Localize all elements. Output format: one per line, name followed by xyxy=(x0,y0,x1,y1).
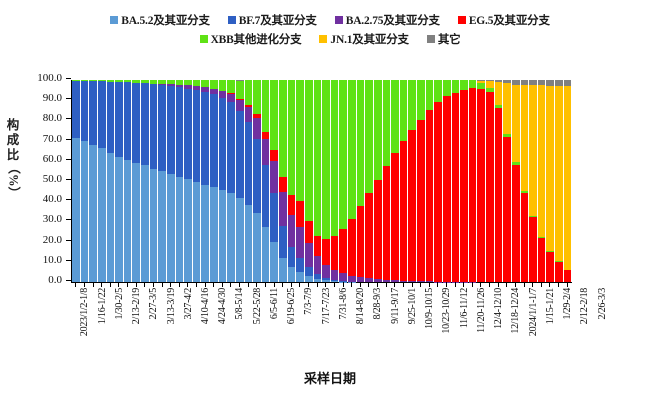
stacked-bar[interactable] xyxy=(81,80,89,282)
legend-item-jn-1[interactable]: JN.1及其亚分支 xyxy=(319,31,408,47)
bar-segment-ba-2-75 xyxy=(314,256,322,274)
bar-segment-ba-2-75 xyxy=(288,215,296,247)
bar-segment-eg-5 xyxy=(546,252,554,282)
x-tick-mark xyxy=(144,282,145,287)
y-axis-title-char: 成 xyxy=(4,133,22,148)
bar-segment-eg-5 xyxy=(270,150,278,161)
stacked-bar[interactable] xyxy=(331,80,339,282)
stacked-bar[interactable] xyxy=(193,80,201,282)
x-tick-label: 1/29-2/4 xyxy=(562,288,573,320)
stacked-bar[interactable] xyxy=(314,80,322,282)
x-tick-mark xyxy=(265,282,266,287)
bar-segment-ba-5-2 xyxy=(245,205,253,282)
bar-segment-eg-5 xyxy=(408,130,416,282)
x-tick-mark xyxy=(498,282,499,287)
bar-segment-ba-5-2 xyxy=(72,138,80,282)
stacked-bar[interactable] xyxy=(288,80,296,282)
bar-segment-ba-5-2 xyxy=(89,145,97,282)
bar-segment-eg-5 xyxy=(374,180,382,279)
stacked-bar[interactable] xyxy=(115,80,123,282)
x-tick-mark xyxy=(437,282,438,287)
bar-segment-ba-2-75 xyxy=(305,243,313,267)
bar-segment-xbb xyxy=(408,80,416,129)
x-tick-label: 10/9-10/15 xyxy=(424,288,435,329)
bar-segment-xbb xyxy=(305,80,313,221)
legend-label: 其它 xyxy=(438,31,461,47)
y-axis-unit: （%） xyxy=(6,162,21,180)
x-tick-label: 2024/1/1-1/7 xyxy=(528,288,539,336)
bar-segment-ba-2-75 xyxy=(219,91,227,98)
bar-segment-jn-1 xyxy=(486,81,494,88)
x-tick-label: 8/28-9/3 xyxy=(372,288,383,320)
bar-segment-eg-5 xyxy=(391,153,399,280)
legend-label: XBB其他进化分支 xyxy=(211,31,302,47)
stacked-bar[interactable] xyxy=(503,80,511,282)
bar-segment-eg-5 xyxy=(383,166,391,279)
legend-swatch-icon xyxy=(319,35,327,43)
bar-segment-bf-7 xyxy=(236,111,244,198)
x-tick-mark xyxy=(162,282,163,287)
bar-segment-ba-2-75 xyxy=(279,192,287,226)
x-tick-label: 4/24-4/30 xyxy=(217,288,228,324)
y-axis-title-char: 构 xyxy=(4,118,22,133)
stacked-bar[interactable] xyxy=(322,80,330,282)
x-tick-mark xyxy=(239,282,240,287)
bar-segment-bf-7 xyxy=(245,122,253,205)
x-axis-title: 采样日期 xyxy=(0,368,660,387)
bar-segment-bf-7 xyxy=(201,92,209,186)
stacked-bar[interactable] xyxy=(279,80,287,282)
stacked-bar[interactable] xyxy=(176,80,184,282)
x-tick-mark xyxy=(205,282,206,287)
bar-segment-eg-5 xyxy=(538,238,546,282)
legend-item-ba-2-75[interactable]: BA.2.75及其亚分支 xyxy=(335,12,440,28)
stacked-bar[interactable] xyxy=(486,80,494,282)
stacked-bar[interactable] xyxy=(184,80,192,282)
bar-segment-eg-5 xyxy=(486,92,494,282)
bar-segment-eg-5 xyxy=(400,141,408,280)
bar-segment-xbb xyxy=(400,80,408,141)
bar-segment-bf-7 xyxy=(193,90,201,182)
x-tick-label: 2/13-2/19 xyxy=(131,288,142,324)
stacked-bar[interactable] xyxy=(512,80,520,282)
stacked-bar[interactable] xyxy=(469,80,477,282)
bar-segment-bf-7 xyxy=(305,267,313,275)
x-tick-mark xyxy=(299,282,300,287)
bar-segment-ba-5-2 xyxy=(158,171,166,282)
bar-segment-jn-1 xyxy=(503,83,511,134)
stacked-bar[interactable] xyxy=(564,80,572,282)
x-tick-mark xyxy=(549,282,550,287)
bar-segment-ba-2-75 xyxy=(253,118,261,138)
bar-segment-xbb xyxy=(253,80,261,114)
stacked-bar[interactable] xyxy=(150,80,158,282)
y-tick-label: 30.0 xyxy=(43,213,62,225)
x-tick-label: 2/12-2/18 xyxy=(579,288,590,324)
x-tick-mark xyxy=(351,282,352,287)
stacked-bar[interactable] xyxy=(167,80,175,282)
stacked-bar[interactable] xyxy=(339,80,347,282)
bar-segment-ba-5-2 xyxy=(150,169,158,282)
bar-segment-jn-1 xyxy=(495,82,503,104)
x-tick-mark xyxy=(506,282,507,287)
x-axis-labels: 2023/1/2-1/81/16-1/221/30-2/52/13-2/192/… xyxy=(71,288,571,360)
y-axis-title: 构成比（%） xyxy=(4,118,22,178)
x-tick-label: 7/3-7/9 xyxy=(303,288,314,315)
x-tick-mark xyxy=(480,282,481,287)
x-tick-mark xyxy=(118,282,119,287)
stacked-bar[interactable] xyxy=(348,80,356,282)
y-tick-label: 90.0 xyxy=(43,92,62,104)
bar-segment-eg-5 xyxy=(512,165,520,282)
stacked-bar[interactable] xyxy=(417,80,425,282)
bar-segment-ba-5-2 xyxy=(236,198,244,282)
stacked-bar[interactable] xyxy=(158,80,166,282)
bar-segment-bf-7 xyxy=(150,84,158,168)
x-tick-mark xyxy=(558,282,559,287)
bar-segment-ba-5-2 xyxy=(176,177,184,282)
x-tick-label: 4/10-4/16 xyxy=(200,288,211,324)
x-tick-label: 2/27-3/5 xyxy=(148,288,159,320)
stacked-bar[interactable] xyxy=(262,80,270,282)
stacked-bar[interactable] xyxy=(555,80,563,282)
y-tick-label: 40.0 xyxy=(43,193,62,205)
y-tick-label: 50.0 xyxy=(43,173,62,185)
x-tick-label: 6/5-6/11 xyxy=(269,288,280,319)
bar-segment-ba-2-75 xyxy=(296,227,304,257)
bar-segment-bf-7 xyxy=(262,165,270,228)
x-tick-mark xyxy=(394,282,395,287)
legend-item-bf-7[interactable]: BF.7及其亚分支 xyxy=(228,12,317,28)
bar-segment-ba-2-75 xyxy=(245,107,253,122)
bar-segment-xbb xyxy=(365,80,373,193)
bar-segment-xbb xyxy=(348,80,356,219)
stacked-bar[interactable] xyxy=(452,80,460,282)
bar-segment-xbb xyxy=(374,80,382,180)
bar-segment-eg-5 xyxy=(503,137,511,282)
bar-segment-xbb xyxy=(296,80,304,201)
bar-segment-xbb xyxy=(210,80,218,88)
stacked-bar[interactable] xyxy=(107,80,115,282)
bar-segment-ba-5-2 xyxy=(167,174,175,282)
x-tick-mark xyxy=(455,282,456,287)
stacked-bar[interactable] xyxy=(201,80,209,282)
x-tick-label: 6/19-6/25 xyxy=(286,288,297,324)
bar-segment-xbb xyxy=(339,80,347,229)
stacked-bar[interactable] xyxy=(391,80,399,282)
bar-segment-eg-5 xyxy=(426,110,434,282)
bar-segment-ba-5-2 xyxy=(253,213,261,282)
stacked-bar[interactable] xyxy=(270,80,278,282)
bar-segment-eg-5 xyxy=(322,239,330,265)
bar-segment-eg-5 xyxy=(564,270,572,282)
bar-segment-eg-5 xyxy=(469,88,477,282)
x-tick-mark xyxy=(541,282,542,287)
bar-segment-xbb xyxy=(383,80,391,166)
y-tick-label: 0.0 xyxy=(48,274,62,286)
bar-segment-bf-7 xyxy=(270,193,278,241)
x-tick-mark xyxy=(386,282,387,287)
x-tick-mark xyxy=(334,282,335,287)
bar-segment-ba-5-2 xyxy=(219,190,227,282)
bar-segment-xbb xyxy=(322,80,330,239)
legend-label: BA.2.75及其亚分支 xyxy=(346,12,440,28)
x-tick-mark xyxy=(84,282,85,287)
bar-segment-jn-1 xyxy=(512,85,520,163)
x-tick-label: 7/31-8/6 xyxy=(338,288,349,320)
bar-segment-bf-7 xyxy=(124,82,132,159)
x-tick-mark xyxy=(274,282,275,287)
x-tick-label: 12/18-12/24 xyxy=(510,288,521,334)
x-tick-mark xyxy=(101,282,102,287)
stacked-bar[interactable] xyxy=(141,80,149,282)
x-tick-mark xyxy=(282,282,283,287)
legend-item-eg-5[interactable]: EG.5及其亚分支 xyxy=(458,12,550,28)
x-tick-mark xyxy=(127,282,128,287)
stacked-bar[interactable] xyxy=(426,80,434,282)
bar-segment-ba-2-75 xyxy=(227,94,235,102)
bar-segment-eg-5 xyxy=(477,89,485,282)
x-tick-mark xyxy=(524,282,525,287)
x-tick-mark xyxy=(248,282,249,287)
y-tick-label: 20.0 xyxy=(43,234,62,246)
legend-label: BF.7及其亚分支 xyxy=(239,12,317,28)
bar-segment-ba-5-2 xyxy=(184,179,192,282)
stacked-bar[interactable] xyxy=(460,80,468,282)
stacked-bar[interactable] xyxy=(365,80,373,282)
legend-swatch-icon xyxy=(427,35,435,43)
bar-segment-eg-5 xyxy=(331,236,339,270)
legend-swatch-icon xyxy=(110,16,118,24)
x-tick-mark xyxy=(308,282,309,287)
stacked-bar[interactable] xyxy=(434,80,442,282)
y-axis-ticks: 100.090.080.070.060.050.040.030.020.010.… xyxy=(22,78,66,282)
x-tick-label: 10/23-10/29 xyxy=(441,288,452,334)
stacked-bar[interactable] xyxy=(400,80,408,282)
legend-row: XBB其他进化分支JN.1及其亚分支其它 xyxy=(191,31,470,47)
legend-swatch-icon xyxy=(458,16,466,24)
x-tick-mark xyxy=(368,282,369,287)
chart-legend: BA.5.2及其亚分支BF.7及其亚分支BA.2.75及其亚分支EG.5及其亚分… xyxy=(0,12,660,47)
stacked-bars xyxy=(72,80,572,282)
bar-segment-eg-5 xyxy=(296,201,304,227)
bar-segment-xbb xyxy=(417,80,425,120)
x-tick-label: 11/20-11/26 xyxy=(476,288,487,333)
x-tick-label: 7/17-7/23 xyxy=(321,288,332,324)
legend-swatch-icon xyxy=(335,16,343,24)
bar-segment-eg-5 xyxy=(460,90,468,282)
x-tick-mark xyxy=(136,282,137,287)
x-tick-label: 1/30-2/5 xyxy=(114,288,125,320)
bar-segment-eg-5 xyxy=(305,221,313,243)
stacked-bar[interactable] xyxy=(227,80,235,282)
bar-segment-xbb xyxy=(357,80,365,206)
bar-segment-ba-5-2 xyxy=(288,267,296,282)
stacked-bar[interactable] xyxy=(495,80,503,282)
stacked-bar[interactable] xyxy=(521,80,529,282)
stacked-bar[interactable] xyxy=(408,80,416,282)
stacked-bar[interactable] xyxy=(219,80,227,282)
x-tick-mark xyxy=(403,282,404,287)
legend-swatch-icon xyxy=(200,35,208,43)
bar-segment-ba-5-2 xyxy=(210,187,218,282)
bar-segment-eg-5 xyxy=(452,93,460,282)
bar-segment-xbb xyxy=(245,80,253,105)
bar-segment-ba-5-2 xyxy=(262,227,270,282)
x-tick-label: 3/13-3/19 xyxy=(166,288,177,324)
x-tick-mark xyxy=(230,282,231,287)
y-tick-label: 80.0 xyxy=(43,112,62,124)
bar-segment-jn-1 xyxy=(538,85,546,236)
bar-segment-ba-2-75 xyxy=(262,139,270,165)
y-tick-mark xyxy=(66,78,71,79)
bar-segment-ba-2-75 xyxy=(339,273,347,281)
stacked-bar[interactable] xyxy=(98,80,106,282)
x-tick-mark xyxy=(325,282,326,287)
x-tick-mark xyxy=(196,282,197,287)
bar-segment-ba-2-75 xyxy=(236,100,244,111)
x-tick-mark xyxy=(472,282,473,287)
bar-segment-eg-5 xyxy=(555,262,563,282)
x-tick-label: 8/14-8/20 xyxy=(355,288,366,324)
x-tick-mark xyxy=(412,282,413,287)
bar-segment-xbb xyxy=(201,80,209,87)
x-tick-mark xyxy=(567,282,568,287)
legend-item-ba-5-2[interactable]: BA.5.2及其亚分支 xyxy=(110,12,210,28)
bar-segment-jn-1 xyxy=(564,86,572,270)
x-tick-mark xyxy=(532,282,533,287)
bar-segment-bf-7 xyxy=(132,83,140,163)
bar-segment-xbb xyxy=(314,80,322,236)
x-tick-label: 3/27-4/2 xyxy=(183,288,194,320)
stacked-bar[interactable] xyxy=(245,80,253,282)
stacked-bar[interactable] xyxy=(305,80,313,282)
bar-segment-eg-5 xyxy=(348,219,356,276)
stacked-bar[interactable] xyxy=(357,80,365,282)
legend-item-xbb[interactable]: XBB其他进化分支 xyxy=(200,31,302,47)
bar-segment-eg-5 xyxy=(495,108,503,282)
x-tick-label: 1/16-1/22 xyxy=(97,288,108,324)
bar-segment-bf-7 xyxy=(253,139,261,214)
stacked-bar[interactable] xyxy=(236,80,244,282)
x-tick-mark xyxy=(213,282,214,287)
bar-segment-xbb xyxy=(391,80,399,153)
bar-segment-bf-7 xyxy=(296,258,304,272)
bar-segment-xbb xyxy=(227,80,235,93)
stacked-bar[interactable] xyxy=(72,80,80,282)
stacked-bar[interactable] xyxy=(124,80,132,282)
plot-area xyxy=(71,80,572,283)
stacked-bar[interactable] xyxy=(383,80,391,282)
bar-segment-xbb xyxy=(469,80,477,88)
y-tick-label: 10.0 xyxy=(43,254,62,266)
bar-segment-xbb xyxy=(443,80,451,96)
bar-segment-ba-5-2 xyxy=(141,165,149,282)
stacked-bar[interactable] xyxy=(477,80,485,282)
bar-segment-eg-5 xyxy=(365,193,373,278)
x-tick-mark xyxy=(187,282,188,287)
stacked-bar[interactable] xyxy=(296,80,304,282)
y-tick-label: 100.0 xyxy=(37,72,62,84)
bar-segment-eg-5 xyxy=(521,193,529,282)
variant-composition-chart: BA.5.2及其亚分支BF.7及其亚分支BA.2.75及其亚分支EG.5及其亚分… xyxy=(0,0,660,401)
y-tick-label: 60.0 xyxy=(43,153,62,165)
stacked-bar[interactable] xyxy=(253,80,261,282)
stacked-bar[interactable] xyxy=(132,80,140,282)
bar-segment-ba-2-75 xyxy=(322,265,330,278)
bar-segment-bf-7 xyxy=(115,82,123,157)
x-tick-label: 9/25-10/1 xyxy=(407,288,418,324)
bar-segment-ba-5-2 xyxy=(98,148,106,282)
bar-segment-bf-7 xyxy=(141,83,149,164)
x-tick-mark xyxy=(446,282,447,287)
stacked-bar[interactable] xyxy=(210,80,218,282)
legend-label: EG.5及其亚分支 xyxy=(469,12,550,28)
bar-segment-ba-5-2 xyxy=(270,242,278,282)
legend-row: BA.5.2及其亚分支BF.7及其亚分支BA.2.75及其亚分支EG.5及其亚分… xyxy=(101,12,559,28)
bar-segment-xbb xyxy=(452,80,460,93)
x-tick-mark xyxy=(291,282,292,287)
stacked-bar[interactable] xyxy=(89,80,97,282)
bar-segment-ba-5-2 xyxy=(201,185,209,282)
bar-segment-bf-7 xyxy=(89,81,97,144)
stacked-bar[interactable] xyxy=(546,80,554,282)
bar-segment-eg-5 xyxy=(434,102,442,282)
bar-segment-eg-5 xyxy=(262,132,270,139)
x-tick-mark xyxy=(343,282,344,287)
bar-segment-bf-7 xyxy=(184,89,192,179)
x-tick-mark xyxy=(420,282,421,287)
stacked-bar[interactable] xyxy=(529,80,537,282)
bar-segment-ba-5-2 xyxy=(193,182,201,282)
x-tick-label: 11/6-11/12 xyxy=(459,288,470,328)
stacked-bar[interactable] xyxy=(443,80,451,282)
bar-segment-xbb xyxy=(236,81,244,99)
bar-segment-xbb xyxy=(262,80,270,132)
bar-segment-xbb xyxy=(434,80,442,102)
bar-segment-ba-2-75 xyxy=(270,161,278,193)
bar-segment-bf-7 xyxy=(167,86,175,174)
legend-label: JN.1及其亚分支 xyxy=(330,31,408,47)
bar-segment-ba-5-2 xyxy=(115,157,123,282)
bar-segment-eg-5 xyxy=(339,229,347,273)
x-tick-mark xyxy=(153,282,154,287)
x-tick-label: 9/11-9/17 xyxy=(390,288,401,324)
stacked-bar[interactable] xyxy=(538,80,546,282)
bar-segment-xbb xyxy=(219,80,227,91)
bar-segment-eg-5 xyxy=(529,217,537,282)
legend-item-other[interactable]: 其它 xyxy=(427,31,461,47)
stacked-bar[interactable] xyxy=(374,80,382,282)
bar-segment-eg-5 xyxy=(279,177,287,192)
bar-segment-bf-7 xyxy=(219,98,227,191)
x-tick-mark xyxy=(429,282,430,287)
bar-segment-ba-5-2 xyxy=(227,193,235,282)
bar-segment-bf-7 xyxy=(279,226,287,258)
bar-segment-eg-5 xyxy=(357,206,365,277)
x-tick-mark xyxy=(317,282,318,287)
x-tick-mark xyxy=(110,282,111,287)
y-tick-label: 70.0 xyxy=(43,133,62,145)
bar-segment-eg-5 xyxy=(314,236,322,256)
x-tick-label: 5/8-5/14 xyxy=(234,288,245,320)
x-tick-mark xyxy=(515,282,516,287)
x-tick-mark xyxy=(179,282,180,287)
x-tick-mark xyxy=(360,282,361,287)
x-tick-label: 1/15-1/21 xyxy=(545,288,556,324)
bar-segment-ba-5-2 xyxy=(132,163,140,282)
bar-segment-jn-1 xyxy=(546,86,554,251)
